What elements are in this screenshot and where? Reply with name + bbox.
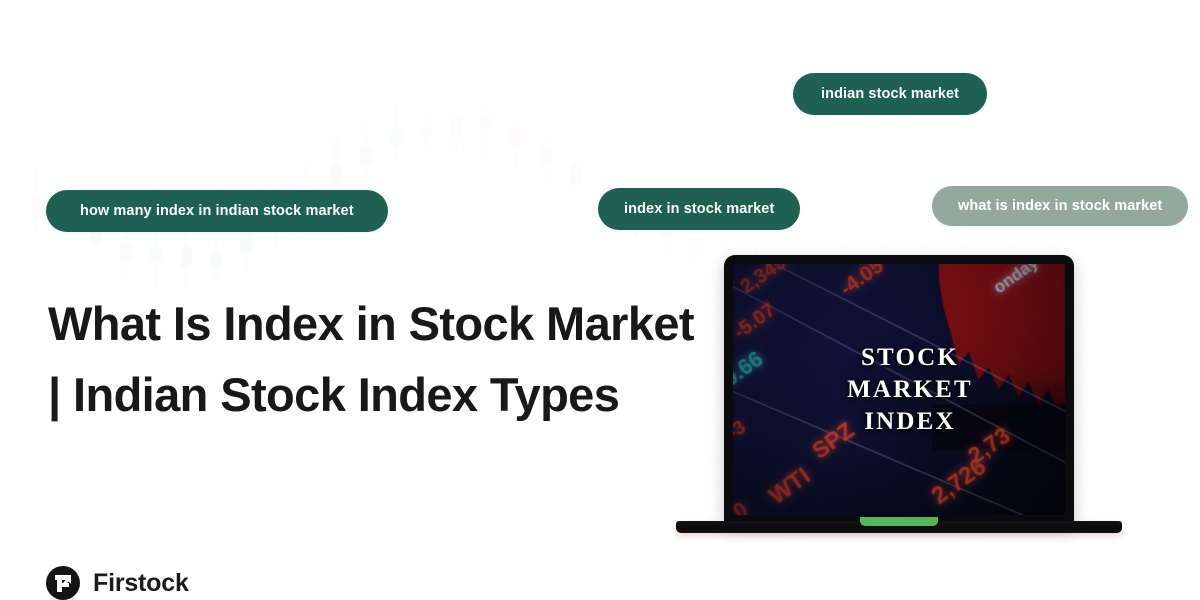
brand-name-label: Firstock (93, 569, 189, 598)
keyword-pill-how-many-index-in-indian-stock-market[interactable]: how many index in indian stock market (46, 190, 388, 232)
screen-title-line-3: INDEX (755, 406, 1065, 438)
keyword-pill-label: how many index in indian stock market (80, 203, 354, 219)
screen-title-line-2: MARKET (755, 374, 1065, 406)
screen-title-line-1: STOCK (755, 342, 1065, 374)
brand-logo[interactable]: Firstock (46, 566, 189, 600)
laptop-trackpad-indicator (860, 517, 938, 526)
screen-title: STOCK MARKET INDEX (733, 342, 1065, 438)
keyword-pill-indian-stock-market[interactable]: indian stock market (793, 73, 987, 115)
keyword-pill-index-in-stock-market[interactable]: index in stock market (598, 188, 800, 230)
page-title: What Is Index in Stock Market | Indian S… (48, 288, 708, 431)
firstock-arrow-logo-icon (46, 566, 80, 600)
laptop-mockup: STOCK MARKET INDEX (676, 255, 1122, 545)
keyword-pill-label: index in stock market (624, 201, 774, 217)
laptop-screen: STOCK MARKET INDEX (733, 264, 1065, 515)
hero-banner: how many index in indian stock market in… (0, 0, 1200, 600)
laptop-lid: STOCK MARKET INDEX (724, 255, 1074, 525)
keyword-pill-what-is-index-in-stock-market[interactable]: what is index in stock market (932, 186, 1188, 226)
keyword-pill-label: indian stock market (821, 86, 959, 102)
keyword-pill-label: what is index in stock market (958, 198, 1162, 214)
